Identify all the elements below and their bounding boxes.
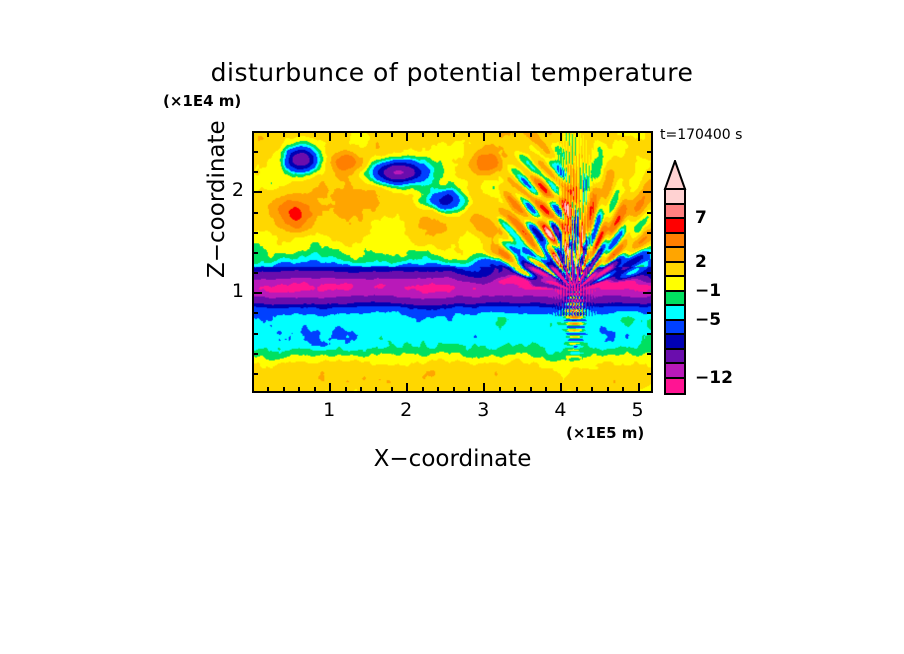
contour-field-canvas	[254, 133, 651, 391]
y-tick	[253, 151, 258, 153]
x-tick	[391, 387, 393, 392]
x-tick-label: 1	[309, 399, 349, 421]
x-tick	[375, 387, 377, 392]
x-tick-top	[314, 132, 316, 137]
x-tick-top	[437, 132, 439, 137]
colorbar-segment	[666, 335, 684, 350]
y-axis-title: Z−coordinate	[204, 138, 230, 278]
colorbar-segment	[666, 321, 684, 336]
y-tick-label: 1	[204, 280, 244, 302]
x-tick	[360, 387, 362, 392]
colorbar-segment	[666, 306, 684, 321]
x-tick-label: 5	[618, 399, 658, 421]
x-tick	[560, 383, 562, 392]
y-tick	[253, 232, 258, 234]
colorbar-segment	[666, 190, 684, 205]
x-tick-top	[499, 132, 501, 137]
y-tick	[253, 191, 262, 193]
y-tick	[253, 292, 262, 294]
colorbar-segment	[666, 248, 684, 263]
time-stamp-label: t=170400 s	[660, 127, 742, 143]
contour-plot-area	[252, 131, 653, 393]
colorbar-tick-label: 2	[695, 252, 707, 272]
x-tick	[499, 387, 501, 392]
colorbar	[663, 160, 687, 395]
x-tick-label: 2	[386, 399, 426, 421]
colorbar-tick-label: −12	[695, 368, 733, 388]
x-tick-top	[360, 132, 362, 137]
x-tick	[283, 387, 285, 392]
x-tick-top	[406, 132, 408, 141]
x-tick-top	[453, 132, 455, 137]
x-tick	[607, 387, 609, 392]
x-tick	[514, 387, 516, 392]
y-tick	[253, 171, 258, 173]
y-tick	[253, 272, 258, 274]
x-tick-top	[560, 132, 562, 141]
x-tick	[345, 387, 347, 392]
x-tick-top	[530, 132, 532, 137]
colorbar-arrow-cap-icon	[663, 160, 687, 190]
x-tick	[468, 387, 470, 392]
colorbar-tick-label: 7	[695, 208, 707, 228]
y-tick-right	[643, 191, 652, 193]
y-tick	[253, 373, 258, 375]
x-tick-label: 4	[540, 399, 580, 421]
x-tick	[591, 387, 593, 392]
page-title: disturbunce of potential temperature	[0, 58, 904, 87]
y-tick-right	[647, 353, 652, 355]
x-tick	[576, 387, 578, 392]
x-tick-top	[298, 132, 300, 137]
x-axis-title: X−coordinate	[252, 446, 653, 472]
colorbar-segment	[666, 379, 684, 394]
x-tick-top	[514, 132, 516, 137]
y-tick-right	[647, 252, 652, 254]
x-tick-top	[468, 132, 470, 137]
y-tick-right	[647, 151, 652, 153]
x-tick	[453, 387, 455, 392]
x-tick-top	[638, 132, 640, 141]
x-axis-unit-label: (×1E5 m)	[566, 424, 644, 442]
colorbar-tick-label: −1	[695, 281, 721, 301]
y-tick	[253, 353, 258, 355]
y-tick-right	[643, 292, 652, 294]
x-tick-label: 3	[463, 399, 503, 421]
x-tick	[483, 383, 485, 392]
colorbar-tick-label: −5	[695, 310, 721, 330]
y-tick-right	[647, 373, 652, 375]
x-tick-top	[591, 132, 593, 137]
x-tick-top	[283, 132, 285, 137]
colorbar-segment	[666, 350, 684, 365]
x-tick	[298, 387, 300, 392]
x-tick	[267, 387, 269, 392]
x-tick-top	[607, 132, 609, 137]
x-tick	[545, 387, 547, 392]
y-tick-right	[647, 272, 652, 274]
colorbar-segment	[666, 205, 684, 220]
y-tick-right	[647, 232, 652, 234]
y-tick	[253, 252, 258, 254]
x-tick-top	[391, 132, 393, 137]
x-tick	[329, 383, 331, 392]
x-tick	[314, 387, 316, 392]
x-tick-top	[622, 132, 624, 137]
x-tick	[437, 387, 439, 392]
colorbar-segment	[666, 364, 684, 379]
colorbar-segment	[666, 263, 684, 278]
colorbar-segment	[666, 277, 684, 292]
x-tick	[638, 383, 640, 392]
x-tick	[530, 387, 532, 392]
x-tick-top	[483, 132, 485, 141]
x-tick	[422, 387, 424, 392]
y-tick	[253, 312, 258, 314]
colorbar-segments	[664, 188, 686, 395]
x-tick-top	[375, 132, 377, 137]
y-axis-unit-label: (×1E4 m)	[163, 92, 241, 110]
x-tick-top	[267, 132, 269, 137]
colorbar-segment	[666, 219, 684, 234]
y-tick-right	[647, 212, 652, 214]
x-tick-top	[576, 132, 578, 137]
x-tick-top	[345, 132, 347, 137]
x-tick-top	[422, 132, 424, 137]
y-tick	[253, 333, 258, 335]
y-tick	[253, 212, 258, 214]
x-tick-top	[329, 132, 331, 141]
x-tick	[406, 383, 408, 392]
x-tick-top	[545, 132, 547, 137]
y-tick-right	[647, 333, 652, 335]
x-tick	[622, 387, 624, 392]
y-tick-right	[647, 312, 652, 314]
y-tick-right	[647, 171, 652, 173]
colorbar-segment	[666, 292, 684, 307]
colorbar-segment	[666, 234, 684, 249]
